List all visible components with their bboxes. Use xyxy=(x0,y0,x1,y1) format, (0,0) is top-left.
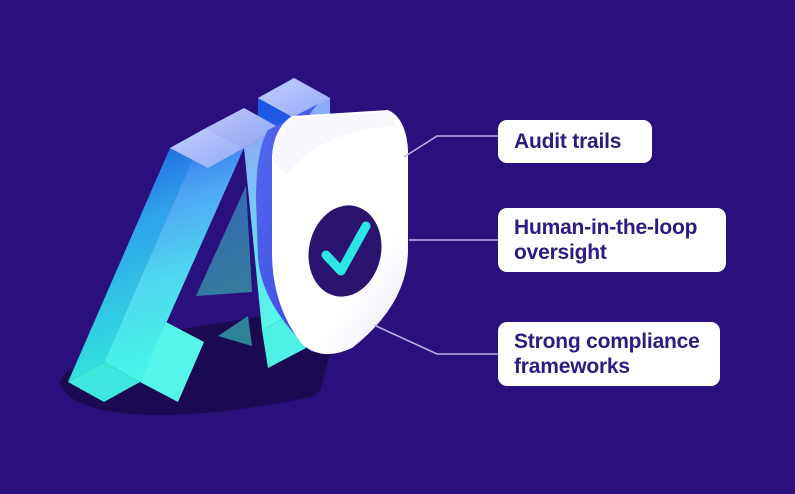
callout-human-in-the-loop-oversight[interactable]: Human-in-the-loop oversight xyxy=(498,208,726,272)
infographic-canvas: Audit trails Human-in-the-loop oversight… xyxy=(0,0,795,494)
callout-label: Strong compliance frameworks xyxy=(514,329,700,379)
connector-line-3 xyxy=(374,325,498,354)
connector-line-1 xyxy=(404,136,498,157)
callout-label: Audit trails xyxy=(514,129,621,154)
callout-strong-compliance-frameworks[interactable]: Strong compliance frameworks xyxy=(498,322,720,386)
callout-label: Human-in-the-loop oversight xyxy=(514,215,697,265)
callout-audit-trails[interactable]: Audit trails xyxy=(498,120,652,163)
